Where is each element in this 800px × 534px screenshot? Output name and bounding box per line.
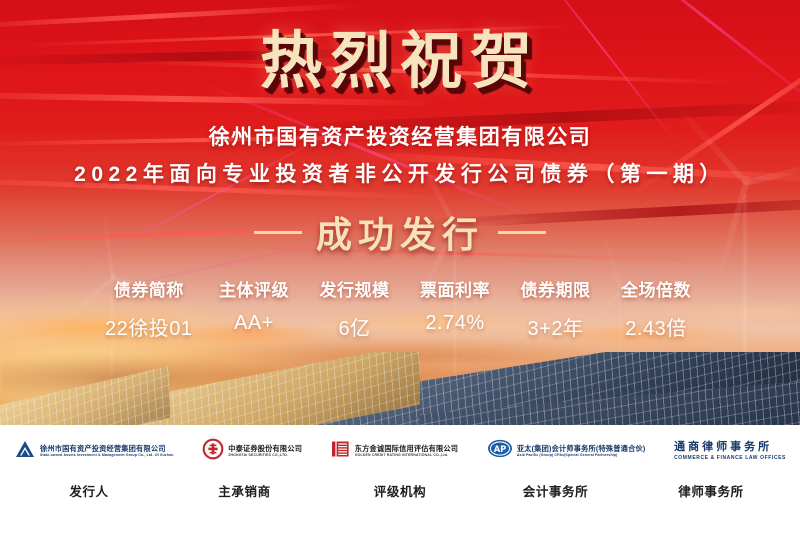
ap-oval-mark-icon: AP: [487, 439, 513, 463]
partner-name-cn: 东方金诚国际信用评估有限公司: [355, 445, 458, 452]
partner-role: 主承销商: [170, 481, 320, 500]
partner-name-en: GOLDEN CREDIT RATING INTERNATIONAL CO.,L…: [355, 454, 458, 458]
partner-name-en: Asia Pacific (Group) CPAs(Special Genera…: [517, 454, 646, 458]
partner-logo-text: 中泰证券股份有限公司 ZHONGTAI SECURITIES CO.,LTD.: [228, 445, 302, 458]
stat-item: 主体评级 AA+: [215, 276, 293, 341]
success-banner: 成功发行: [0, 206, 800, 258]
partner-logo-text: 徐州市国有资产投资经营集团有限公司 State-owned Assets Inv…: [40, 445, 174, 458]
partner-role: 律师事务所: [636, 481, 786, 500]
stat-value: 6亿: [316, 312, 394, 341]
partner-logo-rating: 东方金诚国际信用评估有限公司 GOLDEN CREDIT RATING INTE…: [331, 436, 458, 466]
divider-right: [498, 231, 546, 234]
partner-footer: 徐州市国有资产投资经营集团有限公司 State-owned Assets Inv…: [0, 425, 800, 534]
partner-logo-accounting: AP 亚太(集团)会计师事务所(特殊普通合伙) Asia Pacific (Gr…: [487, 436, 646, 466]
partner-name-cn: 徐州市国有资产投资经营集团有限公司: [40, 445, 174, 452]
stat-item: 票面利率 2.74%: [416, 276, 494, 341]
divider-left: [254, 231, 302, 234]
stat-label: 主体评级: [215, 276, 293, 301]
partner-name-cn: 通商律师事务所: [674, 442, 786, 453]
partner-logo-text: 通商律师事务所 COMMERCE & FINANCE LAW OFFICES: [674, 442, 786, 461]
partner-logo-text: 亚太(集团)会计师事务所(特殊普通合伙) Asia Pacific (Group…: [517, 445, 646, 458]
stat-item: 债券简称 22徐投01: [105, 276, 193, 341]
partner-logo-underwriter: 中泰证券股份有限公司 ZHONGTAI SECURITIES CO.,LTD.: [202, 436, 302, 466]
partner-role-row: 发行人 主承销商 评级机构 会计事务所 律师事务所: [14, 481, 786, 500]
partner-name-en: ZHONGTAI SECURITIES CO.,LTD.: [228, 454, 302, 458]
stat-label: 票面利率: [416, 276, 494, 301]
stat-value: 22徐投01: [105, 312, 193, 341]
partner-role: 发行人: [14, 481, 164, 500]
svg-text:AP: AP: [494, 444, 507, 454]
partner-logo-text: 东方金诚国际信用评估有限公司 GOLDEN CREDIT RATING INTE…: [355, 445, 458, 458]
stat-value: AA+: [215, 312, 293, 335]
stat-label: 全场倍数: [617, 276, 695, 301]
stat-value: 3+2年: [517, 312, 595, 341]
partner-role: 会计事务所: [481, 481, 631, 500]
issuer-name: 徐州市国有资产投资经营集团有限公司: [0, 121, 800, 151]
page-title: 热烈祝贺: [0, 26, 800, 96]
stat-item: 发行规模 6亿: [316, 276, 394, 341]
stat-label: 债券简称: [105, 276, 193, 301]
stat-label: 发行规模: [316, 276, 394, 301]
red-book-mark-icon: [331, 439, 351, 464]
partner-role: 评级机构: [325, 481, 475, 500]
triangle-mark-icon: [14, 438, 36, 465]
partner-logo-law: 通商律师事务所 COMMERCE & FINANCE LAW OFFICES: [674, 436, 786, 466]
stat-item: 债券期限 3+2年: [517, 276, 595, 341]
partner-name-cn: 中泰证券股份有限公司: [228, 445, 302, 452]
poster-root: 热烈祝贺 徐州市国有资产投资经营集团有限公司 2022年面向专业投资者非公开发行…: [0, 0, 800, 534]
stat-value: 2.74%: [416, 312, 494, 335]
partner-name-en: State-owned Assets Investment & Manageme…: [40, 454, 174, 458]
stat-value: 2.43倍: [617, 312, 695, 341]
circle-coin-mark-icon: [202, 438, 224, 465]
bond-description: 2022年面向专业投资者非公开发行公司债券（第一期）: [0, 158, 800, 188]
stat-item: 全场倍数 2.43倍: [617, 276, 695, 341]
stat-label: 债券期限: [517, 276, 595, 301]
partner-logo-issuer: 徐州市国有资产投资经营集团有限公司 State-owned Assets Inv…: [14, 436, 174, 466]
poster-content: 热烈祝贺 徐州市国有资产投资经营集团有限公司 2022年面向专业投资者非公开发行…: [0, 0, 800, 425]
bond-stats: 债券简称 22徐投01 主体评级 AA+ 发行规模 6亿 票面利率 2.74% …: [105, 276, 695, 341]
partner-name-cn: 亚太(集团)会计师事务所(特殊普通合伙): [517, 445, 646, 452]
partner-logo-row: 徐州市国有资产投资经营集团有限公司 State-owned Assets Inv…: [14, 433, 786, 469]
partner-name-en: COMMERCE & FINANCE LAW OFFICES: [674, 456, 786, 461]
success-text: 成功发行: [316, 206, 484, 258]
